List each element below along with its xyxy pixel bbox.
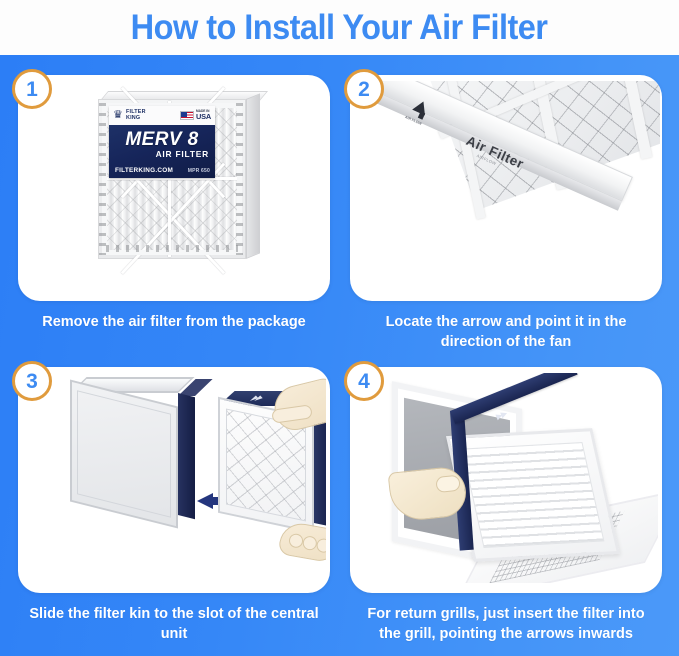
step-1: MERV 8 AIR FILTER FILTERKING.COM MPR 650… [18, 75, 330, 365]
made-in-usa-text: MADE IN USA [196, 110, 211, 121]
step-4-number-badge: 4 [344, 361, 384, 401]
thumb [435, 475, 461, 493]
website-text: FILTERKING.COM [115, 167, 173, 174]
steps-board: MERV 8 AIR FILTER FILTERKING.COM MPR 650… [0, 55, 679, 656]
merv-rating-text: MERV 8 [109, 130, 215, 149]
step-4-card: ▶▶ [350, 367, 662, 593]
air-filter-subhead: AIR FILTER [156, 150, 209, 158]
infographic-page: How to Install Your Air Filter [0, 0, 679, 656]
finger-1 [288, 533, 304, 549]
brand-name-text: FILTER KING [126, 110, 146, 121]
step-2-card: AIR FLOW Air Filter AIRFLOW [350, 75, 662, 301]
filter-tab-left [99, 103, 106, 255]
step-1-card: MERV 8 AIR FILTER FILTERKING.COM MPR 650… [18, 75, 330, 301]
mpr-rating-text: MPR 650 [188, 168, 210, 174]
page-title: How to Install Your Air Filter [131, 10, 548, 45]
step-2-image: AIR FLOW Air Filter AIRFLOW [356, 81, 660, 286]
step-4: ▶▶ 4 For return grills, just insert the … [350, 367, 662, 656]
finger-2 [302, 535, 318, 551]
filter-tab-right [236, 103, 243, 255]
step-2-number-badge: 2 [344, 69, 384, 109]
step-4-number: 4 [358, 371, 370, 392]
step-3-caption: Slide the filter kin to the slot of the … [24, 605, 324, 644]
steps-grid: MERV 8 AIR FILTER FILTERKING.COM MPR 650… [0, 55, 679, 656]
filter-king-logo: ♛ FILTER KING [113, 110, 146, 121]
us-flag-icon [180, 111, 194, 120]
filter-tab-bottom [106, 245, 238, 252]
made-in-usa-mark: MADE IN USA [180, 110, 211, 121]
grill-louvers [462, 442, 605, 548]
step-3-card: ▶▶ [18, 367, 330, 593]
label-header-strip: ♛ FILTER KING MADE IN USA [109, 106, 215, 125]
step-3: ▶▶ Slide the fil [18, 367, 330, 647]
step-3-image: ▶▶ [22, 375, 326, 580]
filter-corner-scene: AIR FLOW Air Filter AIRFLOW [356, 81, 660, 286]
brand-line-2: KING [126, 115, 140, 121]
finger-3 [315, 537, 326, 553]
central-unit-slot [178, 393, 195, 519]
step-2-number: 2 [358, 79, 370, 100]
label-footer: FILTERKING.COM MPR 650 [115, 167, 210, 174]
step-2: AIR FLOW Air Filter AIRFLOW 2 Locate the… [350, 75, 662, 365]
crown-icon: ♛ [113, 110, 124, 121]
filter-side-edge [246, 93, 260, 259]
step-1-number-badge: 1 [12, 69, 52, 109]
arrow-head [197, 493, 213, 509]
step-1-image: MERV 8 AIR FILTER FILTERKING.COM MPR 650… [76, 89, 272, 285]
step-3-number: 3 [26, 371, 38, 392]
step-1-caption: Remove the air filter from the package [18, 313, 330, 333]
step-4-image: ▶▶ [354, 373, 658, 583]
header-bar: How to Install Your Air Filter [0, 0, 679, 55]
usa-text: USA [196, 113, 211, 120]
step-1-number: 1 [26, 79, 38, 100]
step-3-number-badge: 3 [12, 361, 52, 401]
step-4-caption: For return grills, just insert the filte… [356, 605, 656, 644]
step-2-caption: Locate the arrow and point it in the dir… [356, 313, 656, 352]
